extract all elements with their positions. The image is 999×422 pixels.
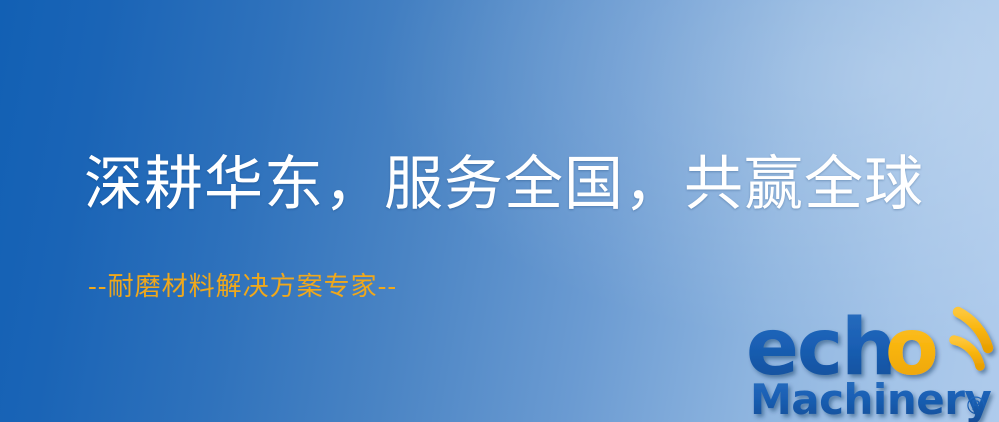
echo-machinery-logo[interactable]: ech o Machinery ® <box>742 288 999 422</box>
hero-banner: 深耕华东，服务全国，共赢全球 --耐磨材料解决方案专家-- <box>0 0 999 422</box>
echo-wave-arcs <box>954 312 988 366</box>
registered-trademark-icon: ® <box>964 392 988 420</box>
banner-headline: 深耕华东，服务全国，共赢全球 <box>84 152 924 216</box>
banner-subtitle: --耐磨材料解决方案专家-- <box>88 266 397 303</box>
machinery-wordmark: Machinery ® <box>750 375 991 422</box>
machinery-wordmark-text: Machinery <box>750 375 991 422</box>
